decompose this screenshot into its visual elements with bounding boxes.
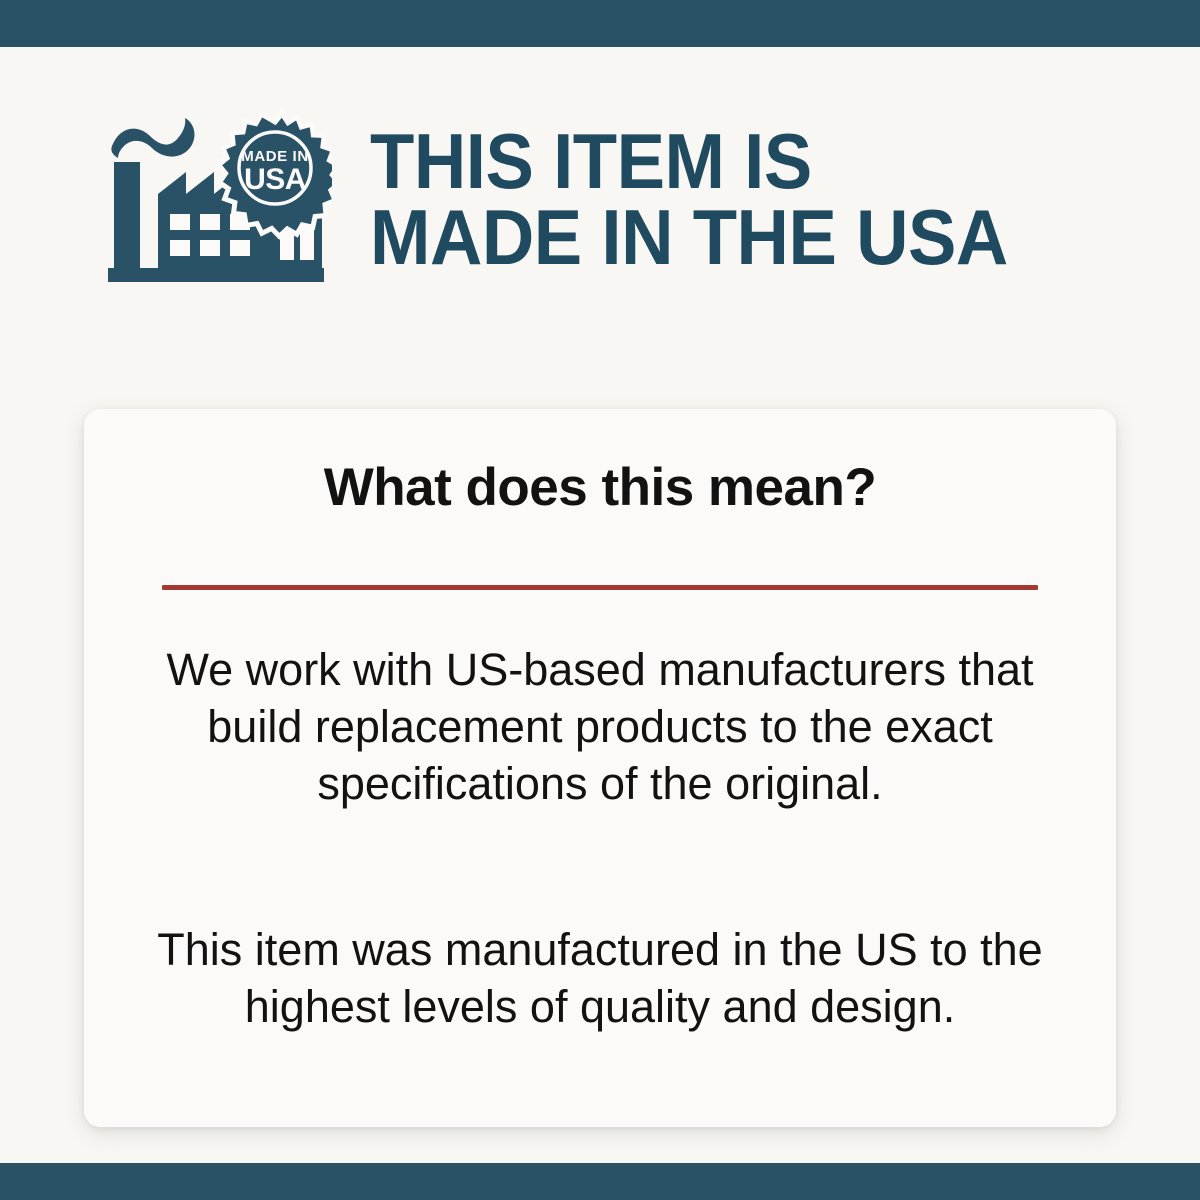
factory-window [230,240,250,256]
bottom-accent-band [0,1163,1200,1200]
info-card: What does this mean? We work with US-bas… [84,409,1116,1127]
card-paragraph-2: This item was manufactured in the US to … [144,921,1056,1035]
factory-window [170,240,190,256]
badge-main-text: USA [244,163,306,196]
page-title-line-2: MADE IN THE USA [370,200,1008,276]
page-title-line-1: THIS ITEM IS [370,124,1008,200]
page-canvas: MADE IN USA THIS ITEM IS MADE IN THE USA… [0,47,1200,1163]
factory-window [200,214,220,230]
chimney-icon [114,162,140,268]
factory-window [170,214,190,230]
factory-window [200,240,220,256]
factory-base [108,268,324,282]
card-paragraph-1: We work with US-based manufacturers that… [144,641,1056,812]
factory-icon: MADE IN USA [100,110,332,290]
smoke-plume-icon [111,118,194,158]
top-accent-band [0,0,1200,47]
red-divider-rule [162,585,1038,590]
card-heading: What does this mean? [84,461,1116,514]
page-header: MADE IN USA THIS ITEM IS MADE IN THE USA [100,105,1150,295]
page-title: THIS ITEM IS MADE IN THE USA [370,124,1008,275]
